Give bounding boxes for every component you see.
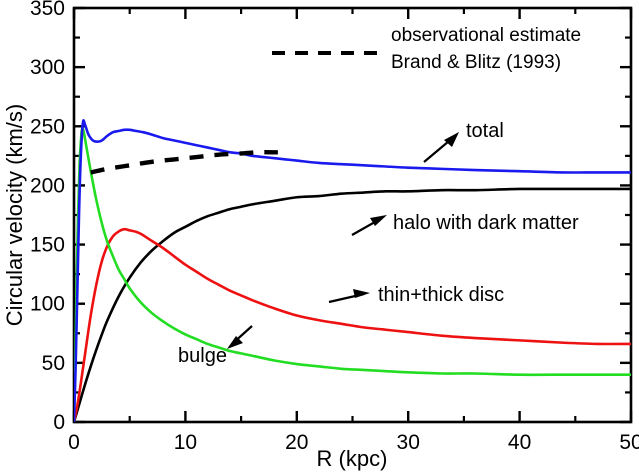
y-tick-label: 300 xyxy=(30,56,65,79)
x-tick-label: 10 xyxy=(174,431,197,454)
disc-arrowhead xyxy=(353,289,370,298)
rotation-curve-figure: 01020304050 050100150200250300350 total … xyxy=(0,0,639,476)
x-tick-label: 50 xyxy=(619,431,639,454)
x-axis-title: R (kpc) xyxy=(317,446,388,471)
y-tick-label: 150 xyxy=(30,234,65,257)
y-tick-label: 50 xyxy=(42,352,65,375)
y-tick-label: 100 xyxy=(30,293,65,316)
series-total xyxy=(74,120,631,422)
annotation-total: total xyxy=(466,120,504,142)
y-tick-label: 250 xyxy=(30,115,65,138)
x-tick-label: 40 xyxy=(508,431,531,454)
y-tick-label: 0 xyxy=(53,411,65,434)
bulge-arrowhead xyxy=(227,336,243,349)
x-tick-label: 30 xyxy=(397,431,420,454)
x-tick-label: 0 xyxy=(68,431,80,454)
series-thin-thick-disc xyxy=(74,229,631,422)
x-tick-label: 20 xyxy=(285,431,308,454)
chart-canvas: 01020304050 050100150200250300350 total … xyxy=(0,0,639,476)
y-axis-title: Circular velocity (km/s) xyxy=(2,104,27,326)
legend-label-line2: Brand & Blitz (1993) xyxy=(391,52,561,73)
y-tick-label: 350 xyxy=(30,0,65,20)
legend-label-line1: observational estimate xyxy=(391,25,581,46)
series-layer xyxy=(74,120,631,422)
y-tick-labels: 050100150200250300350 xyxy=(30,0,65,434)
legend: observational estimate Brand & Blitz (19… xyxy=(272,25,581,73)
annotation-halo: halo with dark matter xyxy=(393,212,579,234)
annotation-disc: thin+thick disc xyxy=(378,284,504,306)
annotation-bulge: bulge xyxy=(178,345,227,367)
y-tick-label: 200 xyxy=(30,174,65,197)
